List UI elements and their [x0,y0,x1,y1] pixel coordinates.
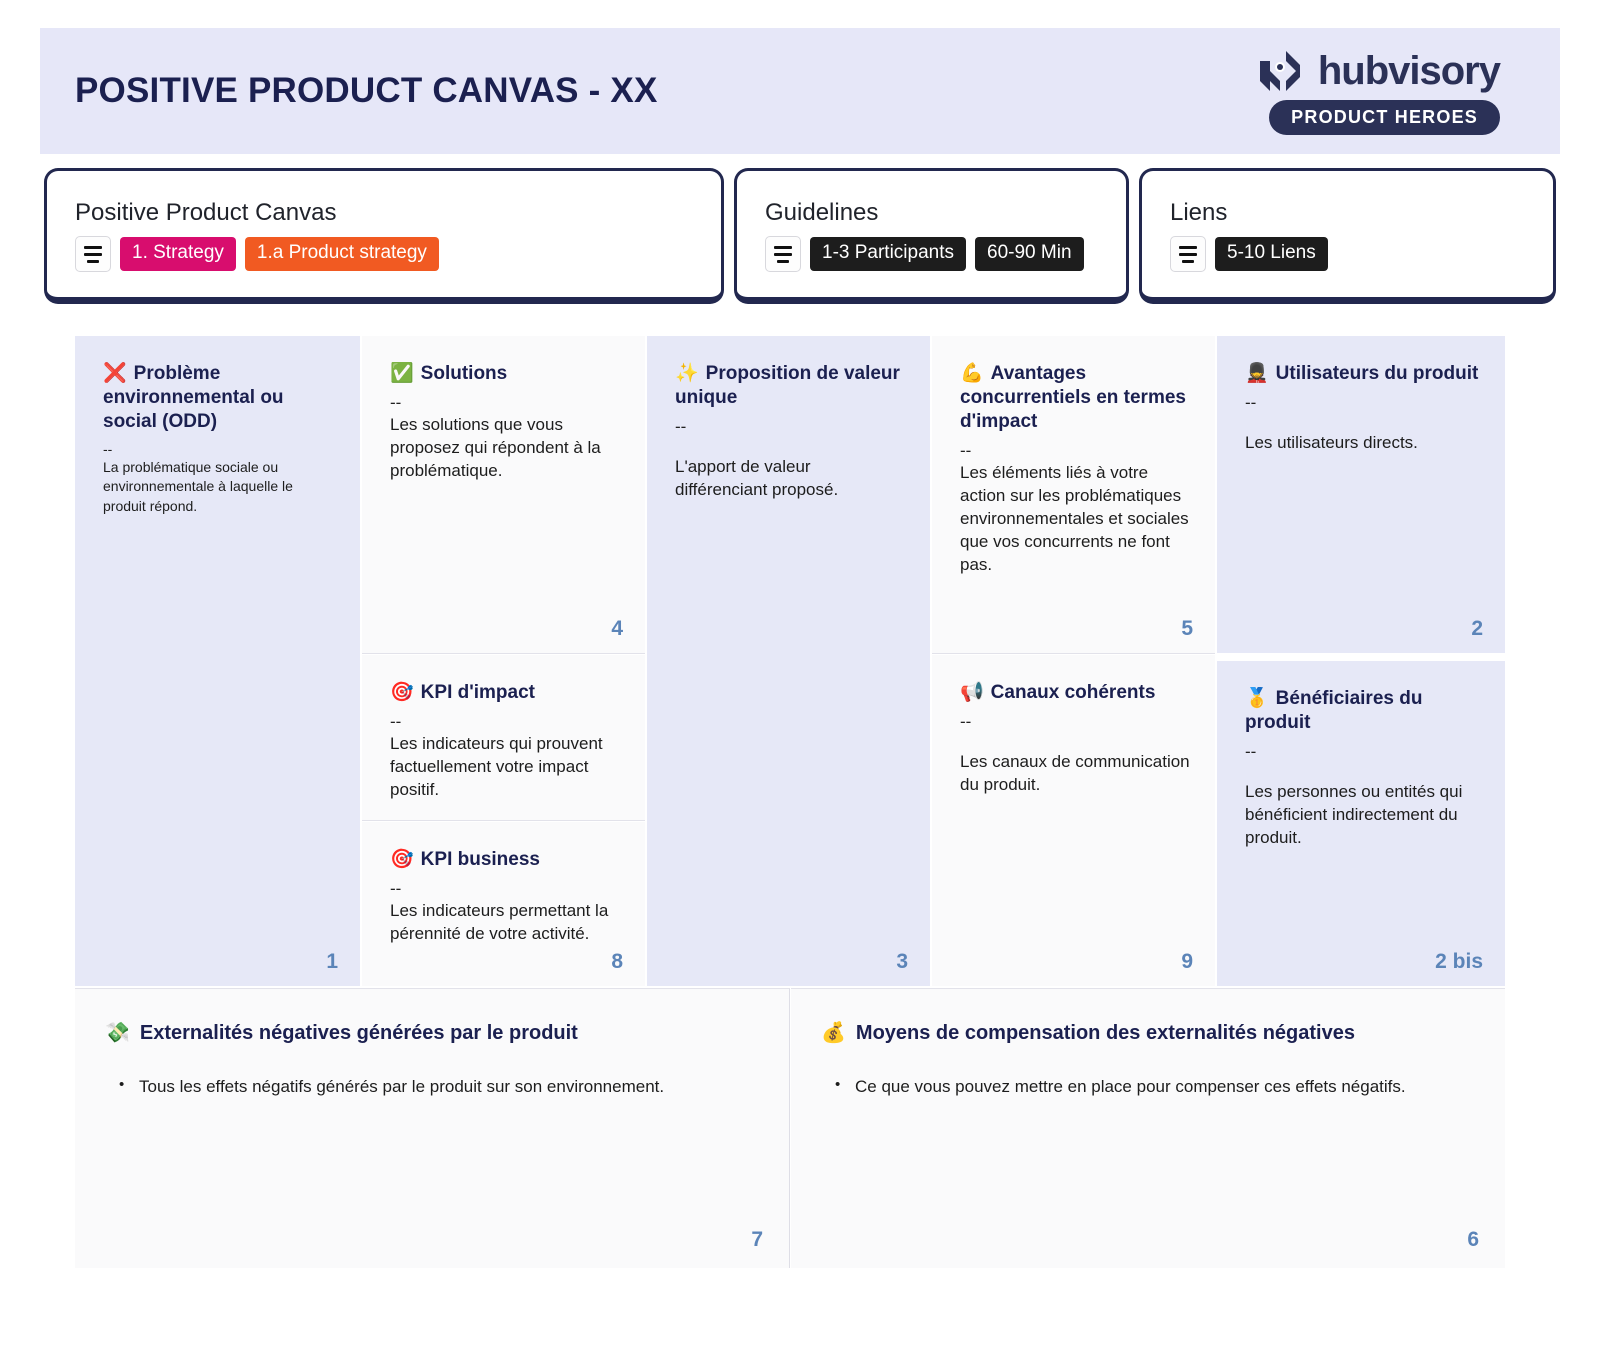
money-with-wings-icon: 💸 [105,1022,130,1044]
cell-number: 4 [611,617,623,641]
cell-title: ✨Proposition de valeur unique [675,362,906,410]
cell-number: 3 [896,950,908,974]
chip-row: 1. Strategy 1.a Product strategy [75,236,699,272]
list-item: Ce que vous pouvez mettre en place pour … [855,1075,1475,1099]
info-card-title: Guidelines [765,200,1104,226]
cell-title-text: KPI d'impact [421,682,535,703]
hubvisory-mark-icon [1256,47,1308,95]
cell-body: La problématique sociale ou environnemen… [103,458,336,516]
cell-title-text: Bénéficiaires du produit [1245,688,1422,733]
person-icon: 💂 [1245,363,1269,384]
panel-externalites-negatives[interactable]: 💸Externalités négatives générées par le … [75,988,790,1268]
cell-title: 🥇Bénéficiaires du produit [1245,687,1481,735]
cell-kpi-business[interactable]: 🎯KPI business -- Les indicateurs permett… [362,822,645,986]
cell-dash: -- [960,440,1191,462]
info-card-liens[interactable]: Liens 5-10 Liens [1139,168,1556,304]
cell-title-text: Avantages concurrentiels en termes d'imp… [960,363,1186,432]
header-band: POSITIVE PRODUCT CANVAS - XX hubvisory P… [40,28,1560,154]
panel-title-text: Moyens de compensation des externalités … [856,1022,1355,1044]
cell-dash: -- [675,416,906,438]
hubvisory-logo: hubvisory PRODUCT HEROES [1256,47,1500,135]
red-cross-icon: ❌ [103,363,127,384]
panel-title: 💰Moyens de compensation des externalités… [821,1021,1475,1045]
canvas-grid-bottom: 💸Externalités négatives générées par le … [75,988,1505,1268]
cell-number: 1 [326,950,338,974]
target-icon: 🎯 [390,849,414,870]
panel-title-text: Externalités négatives générées par le p… [140,1022,578,1044]
cell-number: 2 [1471,617,1483,641]
cell-body: Les personnes ou entités qui bénéficient… [1245,781,1481,850]
cell-dash: -- [390,392,621,414]
cell-body: Les canaux de communication du produit. [960,751,1191,797]
panel-title: 💸Externalités négatives générées par le … [105,1021,759,1045]
chip-liens-count[interactable]: 5-10 Liens [1215,237,1328,271]
money-bag-icon: 💰 [821,1022,846,1044]
cell-title-text: Canaux cohérents [991,682,1156,703]
list-icon[interactable] [765,236,801,272]
cell-body: Les utilisateurs directs. [1245,432,1481,455]
cell-body: Les indicateurs qui prouvent factuelleme… [390,733,621,802]
list-icon[interactable] [75,236,111,272]
sparkles-icon: ✨ [675,363,699,384]
cell-body: Les indicateurs permettant la pérennité … [390,900,621,946]
target-icon: 🎯 [390,682,414,703]
cell-dash: -- [960,711,1191,733]
cell-title-text: Utilisateurs du produit [1276,363,1479,384]
medal-icon: 🥇 [1245,688,1269,709]
cell-canaux-coherents[interactable]: 📢Canaux cohérents -- Les canaux de commu… [932,655,1215,986]
chip-duration[interactable]: 60-90 Min [975,237,1084,271]
chip-row: 5-10 Liens [1170,236,1531,272]
cell-dash: -- [390,711,621,733]
cell-dash: -- [1245,741,1481,763]
cell-avantages-concurrentiels[interactable]: 💪Avantages concurrentiels en termes d'im… [932,336,1215,654]
logo-top-row: hubvisory [1256,47,1500,95]
cell-body: Les solutions que vous proposez qui répo… [390,414,621,483]
info-cards-row: Positive Product Canvas 1. Strategy 1.a … [44,168,1556,304]
cell-utilisateurs-produit[interactable]: 💂Utilisateurs du produit -- Les utilisat… [1217,336,1505,654]
list-icon[interactable] [1170,236,1206,272]
cell-title: ✅Solutions [390,362,621,386]
cell-number: 2 bis [1435,950,1483,974]
cell-proposition-valeur[interactable]: ✨Proposition de valeur unique -- L'appor… [647,336,930,986]
panel-number: 6 [1467,1228,1479,1252]
cell-title: 💪Avantages concurrentiels en termes d'im… [960,362,1191,434]
cell-title: 🎯KPI business [390,848,621,872]
cell-dash: -- [390,878,621,900]
chip-strategy[interactable]: 1. Strategy [120,237,236,271]
cell-title: 🎯KPI d'impact [390,681,621,705]
green-check-icon: ✅ [390,363,414,384]
cell-body: L'apport de valeur différenciant proposé… [675,456,906,502]
cell-title-text: Proposition de valeur unique [675,363,900,408]
cell-title: ❌Problème environnemental ou social (ODD… [103,362,336,434]
cell-title: 💂Utilisateurs du produit [1245,362,1481,386]
cell-title: 📢Canaux cohérents [960,681,1191,705]
list-item: Tous les effets négatifs générés par le … [139,1075,759,1099]
cell-title-text: KPI business [421,849,540,870]
megaphone-icon: 📢 [960,682,984,703]
canvas-page: POSITIVE PRODUCT CANVAS - XX hubvisory P… [0,0,1600,1352]
cell-probleme[interactable]: ❌Problème environnemental ou social (ODD… [75,336,360,986]
panel-moyens-compensation[interactable]: 💰Moyens de compensation des externalités… [791,988,1505,1268]
chip-row: 1-3 Participants 60-90 Min [765,236,1104,272]
cell-solutions[interactable]: ✅Solutions -- Les solutions que vous pro… [362,336,645,654]
panel-list: Ce que vous pouvez mettre en place pour … [821,1075,1475,1099]
cell-beneficiaires-produit[interactable]: 🥇Bénéficiaires du produit -- Les personn… [1217,661,1505,986]
cell-kpi-impact[interactable]: 🎯KPI d'impact -- Les indicateurs qui pro… [362,655,645,821]
page-title: POSITIVE PRODUCT CANVAS - XX [75,71,658,111]
info-card-title: Positive Product Canvas [75,200,699,226]
logo-tagline-pill: PRODUCT HEROES [1269,100,1500,135]
cell-number: 8 [611,950,623,974]
cell-number: 9 [1181,950,1193,974]
info-card-guidelines[interactable]: Guidelines 1-3 Participants 60-90 Min [734,168,1129,304]
cell-dash: -- [103,440,336,458]
cell-title-text: Solutions [421,363,508,384]
panel-list: Tous les effets négatifs générés par le … [105,1075,759,1099]
cell-number: 5 [1181,617,1193,641]
info-card-positive-product-canvas[interactable]: Positive Product Canvas 1. Strategy 1.a … [44,168,724,304]
chip-participants[interactable]: 1-3 Participants [810,237,966,271]
cell-body: Les éléments liés à votre action sur les… [960,462,1191,577]
info-card-title: Liens [1170,200,1531,226]
chip-product-strategy[interactable]: 1.a Product strategy [245,237,439,271]
canvas-grid-top: ❌Problème environnemental ou social (ODD… [75,336,1505,986]
panel-number: 7 [751,1228,763,1252]
flexed-biceps-icon: 💪 [960,363,984,384]
cell-dash: -- [1245,392,1481,414]
logo-wordmark: hubvisory [1318,51,1500,91]
cell-title-text: Problème environnemental ou social (ODD) [103,363,284,432]
canvas-grid: ❌Problème environnemental ou social (ODD… [75,336,1505,1268]
